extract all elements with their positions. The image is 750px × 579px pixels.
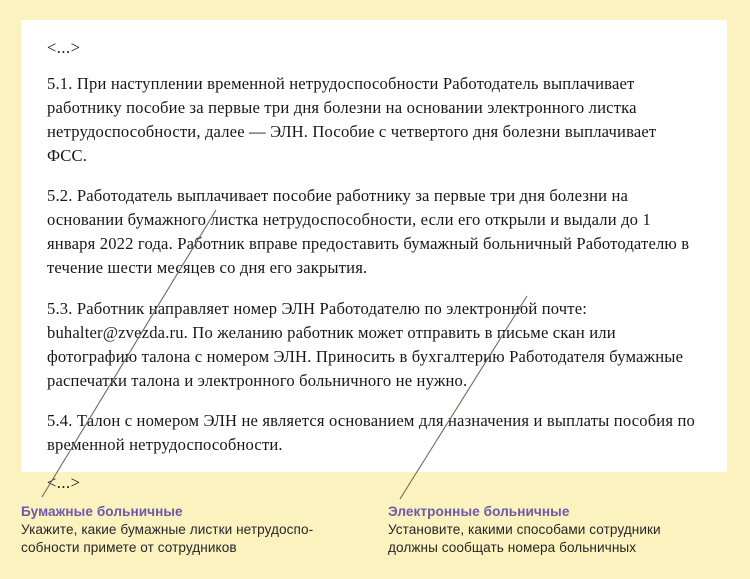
callout-paper-body: Укажите, какие бумажные листки нетрудосп… (21, 521, 351, 556)
callout-electronic-sick-leave: Электронные больничные Установите, каким… (388, 503, 728, 556)
clause-5-1-paragraph: 5.1. При наступлении временной нетрудосп… (47, 72, 697, 168)
callout-electronic-title: Электронные больничные (388, 503, 728, 520)
clause-5-4-paragraph: 5.4. Талон с номером ЭЛН не является осн… (47, 409, 697, 457)
document-top-ellipsis: <...> (47, 38, 697, 58)
callout-electronic-body: Установите, какими способами сотрудники … (388, 521, 728, 556)
document-sheet: <...> 5.1. При наступлении временной нет… (21, 20, 727, 472)
clause-5-2-paragraph: 5.2. Работодатель выплачивает пособие ра… (47, 184, 697, 280)
page-root: <...> 5.1. При наступлении временной нет… (0, 0, 750, 579)
callout-paper-sick-leave: Бумажные больничные Укажите, какие бумаж… (21, 503, 351, 556)
clause-5-3-paragraph: 5.3. Работник направляет номер ЭЛН Работ… (47, 297, 697, 393)
document-bottom-ellipsis: <...> (47, 473, 697, 493)
callout-paper-title: Бумажные больничные (21, 503, 351, 520)
